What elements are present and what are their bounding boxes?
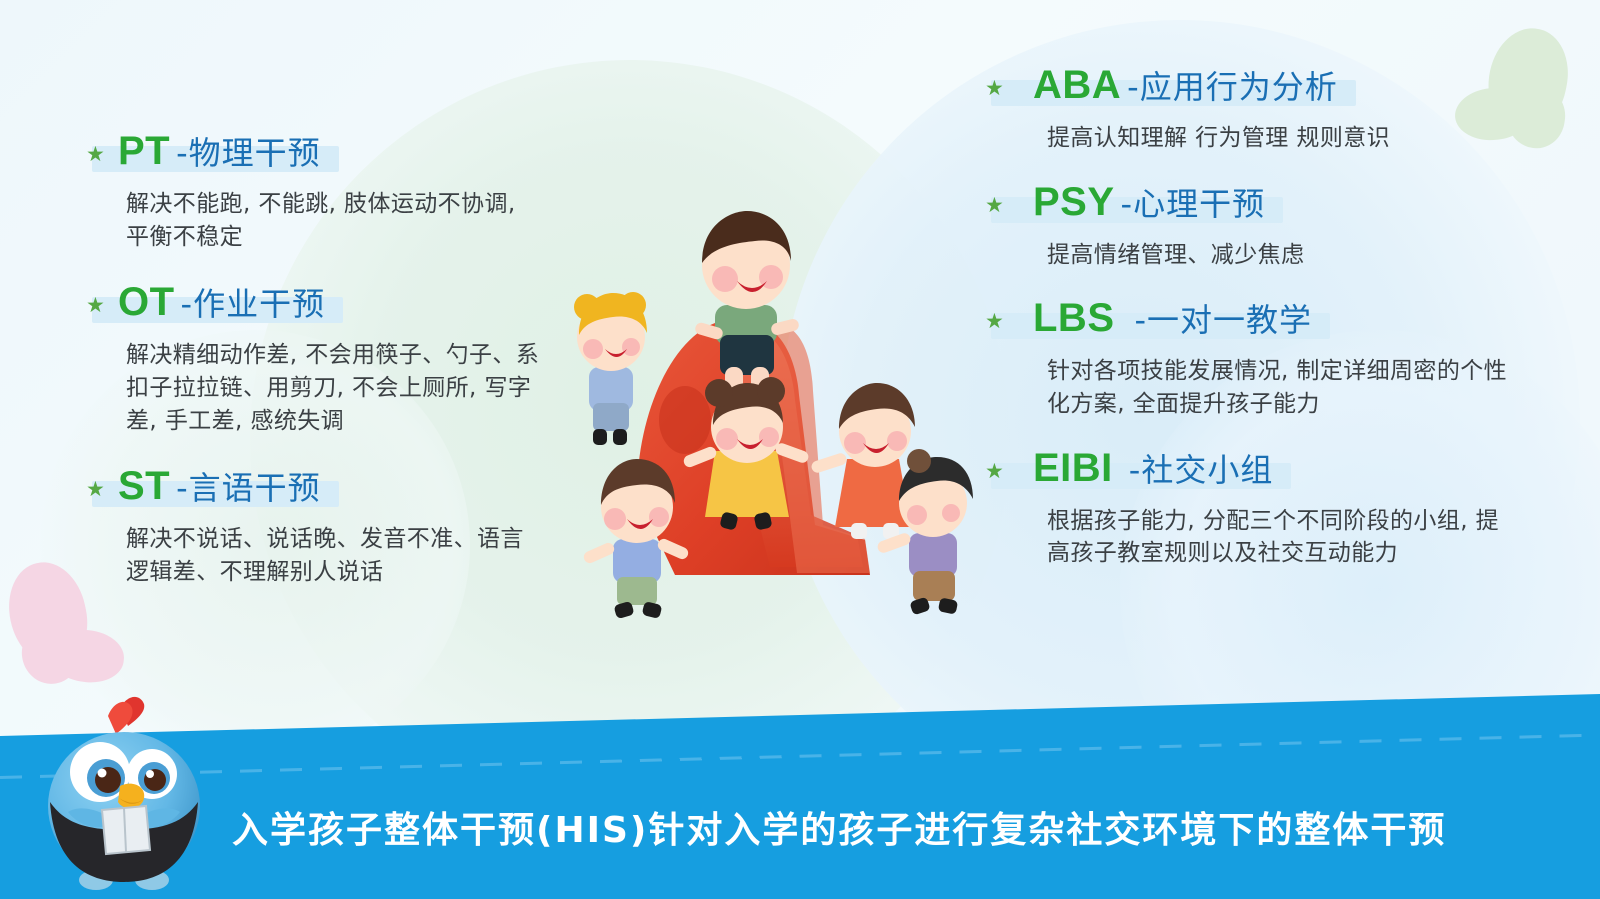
star-icon: ★ bbox=[86, 296, 106, 316]
service-title: -物理干预 bbox=[176, 128, 321, 174]
service-abbr: ABA bbox=[1033, 63, 1121, 108]
star-icon: ★ bbox=[985, 462, 1005, 482]
service-heading-pt: ★ PT -物理干预 bbox=[86, 128, 333, 174]
service-abbr: ST bbox=[118, 464, 170, 509]
poster-canvas: ★ PT -物理干预 解决不能跑, 不能跳, 肢体运动不协调, 平衡不稳定 ★ … bbox=[0, 0, 1600, 899]
service-block-aba: ★ ABA -应用行为分析 提高认知理解 行为管理 规则意识 bbox=[985, 62, 1525, 155]
bird-mascot bbox=[24, 694, 224, 899]
service-description: 提高认知理解 行为管理 规则意识 bbox=[1047, 122, 1517, 155]
service-title: -一对一教学 bbox=[1135, 295, 1313, 341]
right-column: ★ ABA -应用行为分析 提高认知理解 行为管理 规则意识 ★ PSY -心理… bbox=[985, 62, 1525, 592]
service-abbr: OT bbox=[118, 280, 175, 325]
service-description: 解决不说话、说话晚、发音不准、语言逻辑差、不理解别人说话 bbox=[126, 523, 546, 588]
service-description: 根据孩子能力, 分配三个不同阶段的小组, 提高孩子教室规则以及社交互动能力 bbox=[1047, 505, 1517, 570]
service-block-eibi: ★ EIBI -社交小组 根据孩子能力, 分配三个不同阶段的小组, 提高孩子教室… bbox=[985, 445, 1525, 570]
service-block-st: ★ ST -言语干预 解决不说话、说话晚、发音不准、语言逻辑差、不理解别人说话 bbox=[86, 463, 566, 588]
service-heading-st: ★ ST -言语干预 bbox=[86, 463, 333, 509]
service-title: -应用行为分析 bbox=[1127, 62, 1338, 108]
star-icon: ★ bbox=[985, 79, 1005, 99]
service-heading-ot: ★ OT -作业干预 bbox=[86, 279, 337, 325]
star-icon: ★ bbox=[985, 196, 1005, 216]
service-abbr: PSY bbox=[1033, 180, 1115, 225]
service-abbr: PT bbox=[118, 129, 170, 174]
service-description: 解决不能跑, 不能跳, 肢体运动不协调, 平衡不稳定 bbox=[126, 188, 546, 253]
service-heading-lbs: ★ LBS -一对一教学 bbox=[985, 295, 1324, 341]
service-heading-eibi: ★ EIBI -社交小组 bbox=[985, 445, 1285, 491]
service-block-psy: ★ PSY -心理干预 提高情绪管理、减少焦虑 bbox=[985, 179, 1525, 272]
star-icon: ★ bbox=[86, 145, 106, 165]
star-icon: ★ bbox=[86, 480, 106, 500]
children-slide-illustration bbox=[565, 195, 995, 625]
service-description: 提高情绪管理、减少焦虑 bbox=[1047, 239, 1517, 272]
service-heading-aba: ★ ABA -应用行为分析 bbox=[985, 62, 1350, 108]
service-title: -言语干预 bbox=[176, 463, 321, 509]
service-block-ot: ★ OT -作业干预 解决精细动作差, 不会用筷子、勺子、系扣子拉拉链、用剪刀,… bbox=[86, 279, 566, 437]
service-heading-psy: ★ PSY -心理干预 bbox=[985, 179, 1277, 225]
service-abbr: LBS bbox=[1033, 296, 1115, 341]
service-block-pt: ★ PT -物理干预 解决不能跑, 不能跳, 肢体运动不协调, 平衡不稳定 bbox=[86, 128, 566, 253]
service-title: -社交小组 bbox=[1129, 445, 1274, 491]
service-title: -心理干预 bbox=[1121, 179, 1266, 225]
service-description: 解决精细动作差, 不会用筷子、勺子、系扣子拉拉链、用剪刀, 不会上厕所, 写字差… bbox=[126, 339, 546, 437]
banner-text: 入学孩子整体干预(HIS)针对入学的孩子进行复杂社交环境下的整体干预 bbox=[232, 801, 1562, 853]
service-title: -作业干预 bbox=[181, 279, 326, 325]
service-block-lbs: ★ LBS -一对一教学 针对各项技能发展情况, 制定详细周密的个性化方案, 全… bbox=[985, 295, 1525, 420]
star-icon: ★ bbox=[985, 312, 1005, 332]
service-description: 针对各项技能发展情况, 制定详细周密的个性化方案, 全面提升孩子能力 bbox=[1047, 355, 1517, 420]
service-abbr: EIBI bbox=[1033, 446, 1113, 491]
left-column: ★ PT -物理干预 解决不能跑, 不能跳, 肢体运动不协调, 平衡不稳定 ★ … bbox=[86, 128, 566, 603]
